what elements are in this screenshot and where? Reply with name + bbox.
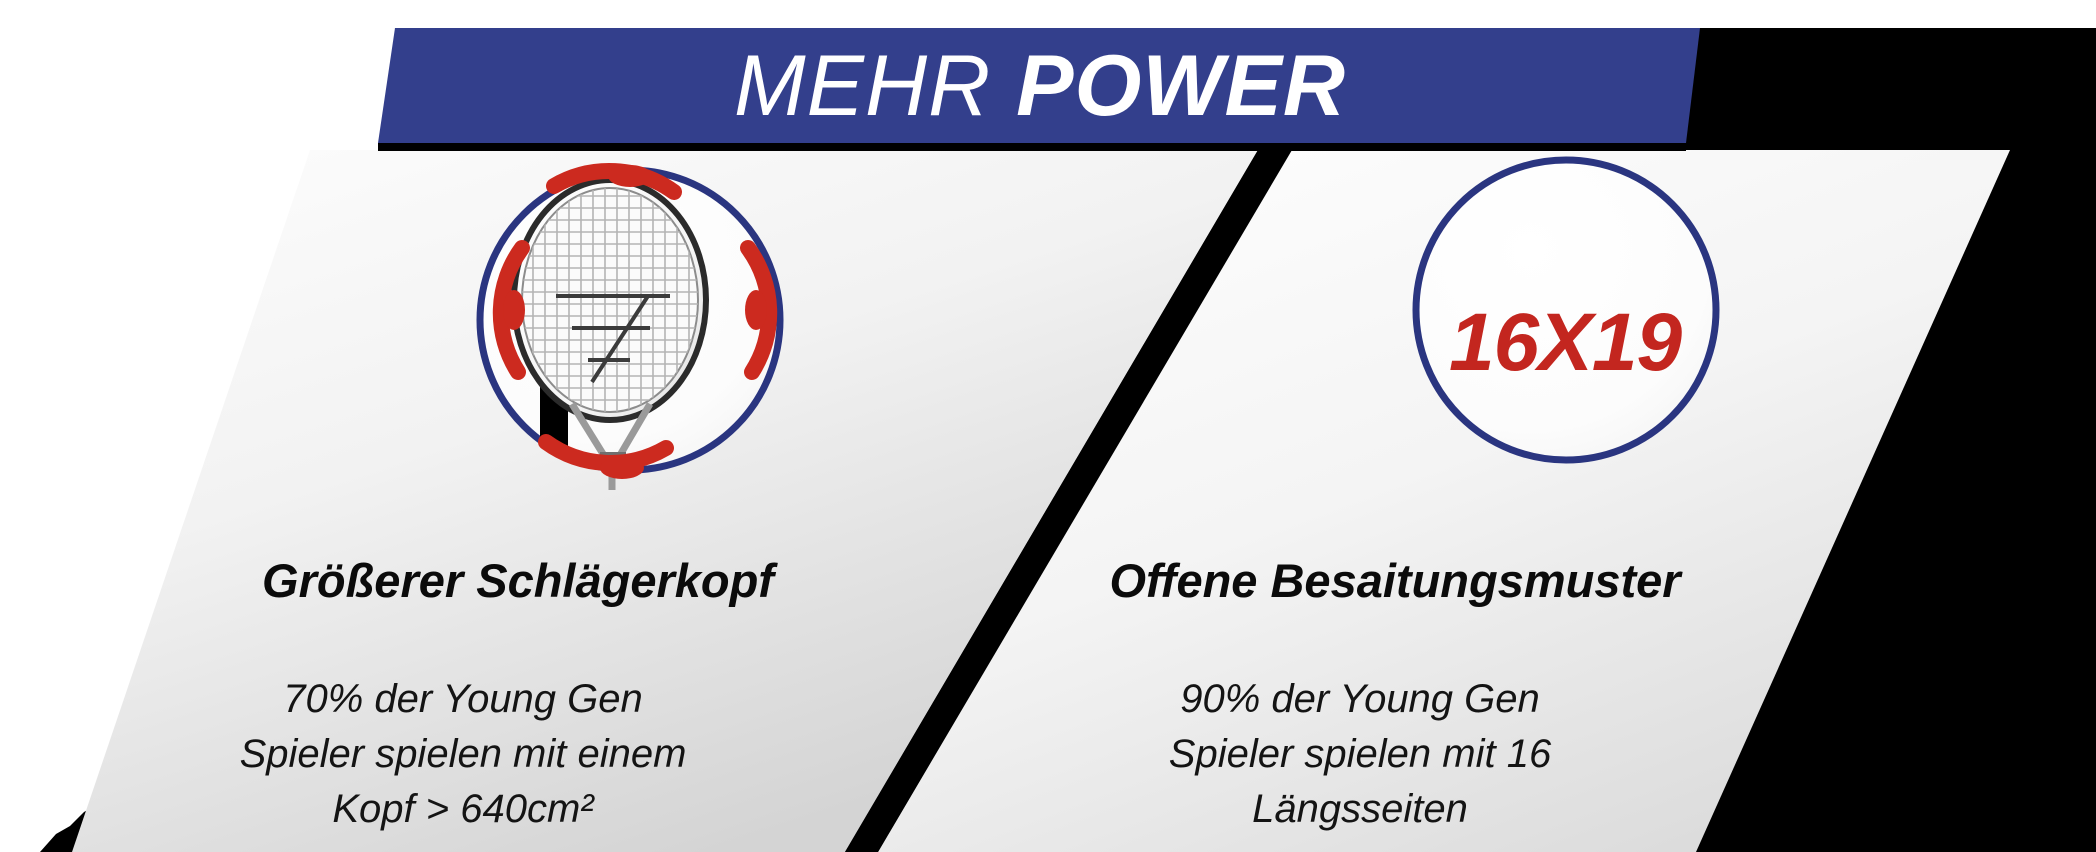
banner-title: MEHR POWER: [395, 28, 1685, 143]
infographic-slide: MEHR POWER 16X19 Größerer Schlägerkopf 7…: [0, 0, 2096, 852]
banner-title-word-1: MEHR: [734, 43, 1016, 129]
banner-title-word-2: POWER: [1016, 43, 1346, 129]
panel-left-body: 70% der Young Gen Spieler spielen mit ei…: [218, 672, 708, 838]
panel-right-heading: Offene Besaitungsmuster: [930, 556, 1860, 605]
panel-left-heading: Größerer Schlägerkopf: [118, 556, 918, 605]
string-pattern-label: 16X19: [1400, 296, 1730, 390]
panel-right-body: 90% der Young Gen Spieler spielen mit 16…: [1125, 672, 1595, 838]
